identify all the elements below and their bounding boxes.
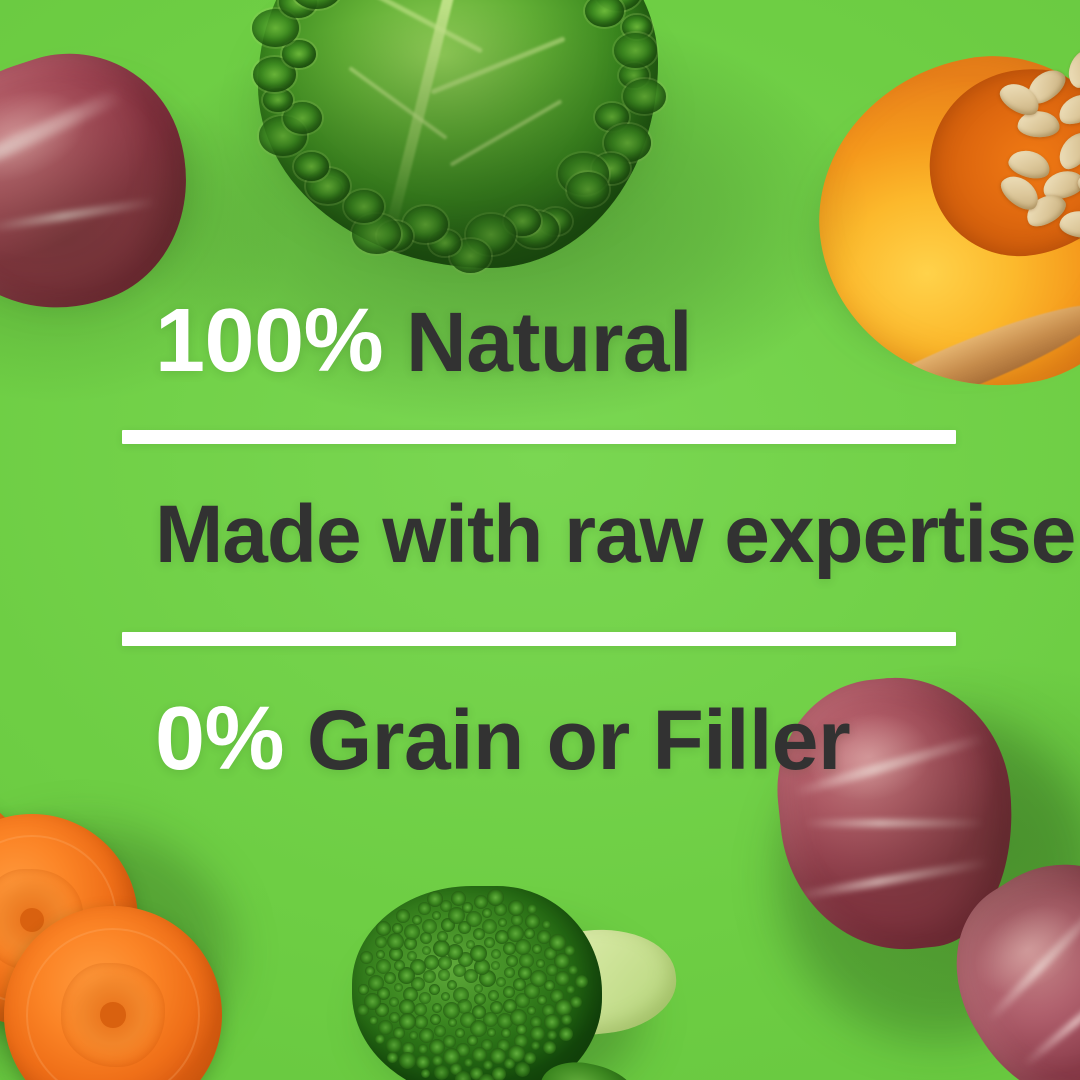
promo-banner: 100% Natural Made with raw expertise 0% … bbox=[0, 0, 1080, 1080]
claim-natural-label: Natural bbox=[383, 295, 692, 389]
divider-top bbox=[122, 430, 956, 444]
claim-grain-filler-label: Grain or Filler bbox=[284, 693, 850, 787]
claim-raw-expertise: Made with raw expertise bbox=[155, 494, 1075, 576]
claim-natural: 100% Natural bbox=[155, 296, 692, 386]
divider-bottom bbox=[122, 632, 956, 646]
claim-grain-filler-percent: 0% bbox=[155, 689, 284, 789]
claim-natural-percent: 100% bbox=[155, 291, 383, 391]
claim-grain-filler: 0% Grain or Filler bbox=[155, 694, 850, 784]
claims-content: 100% Natural Made with raw expertise 0% … bbox=[0, 0, 1080, 1080]
